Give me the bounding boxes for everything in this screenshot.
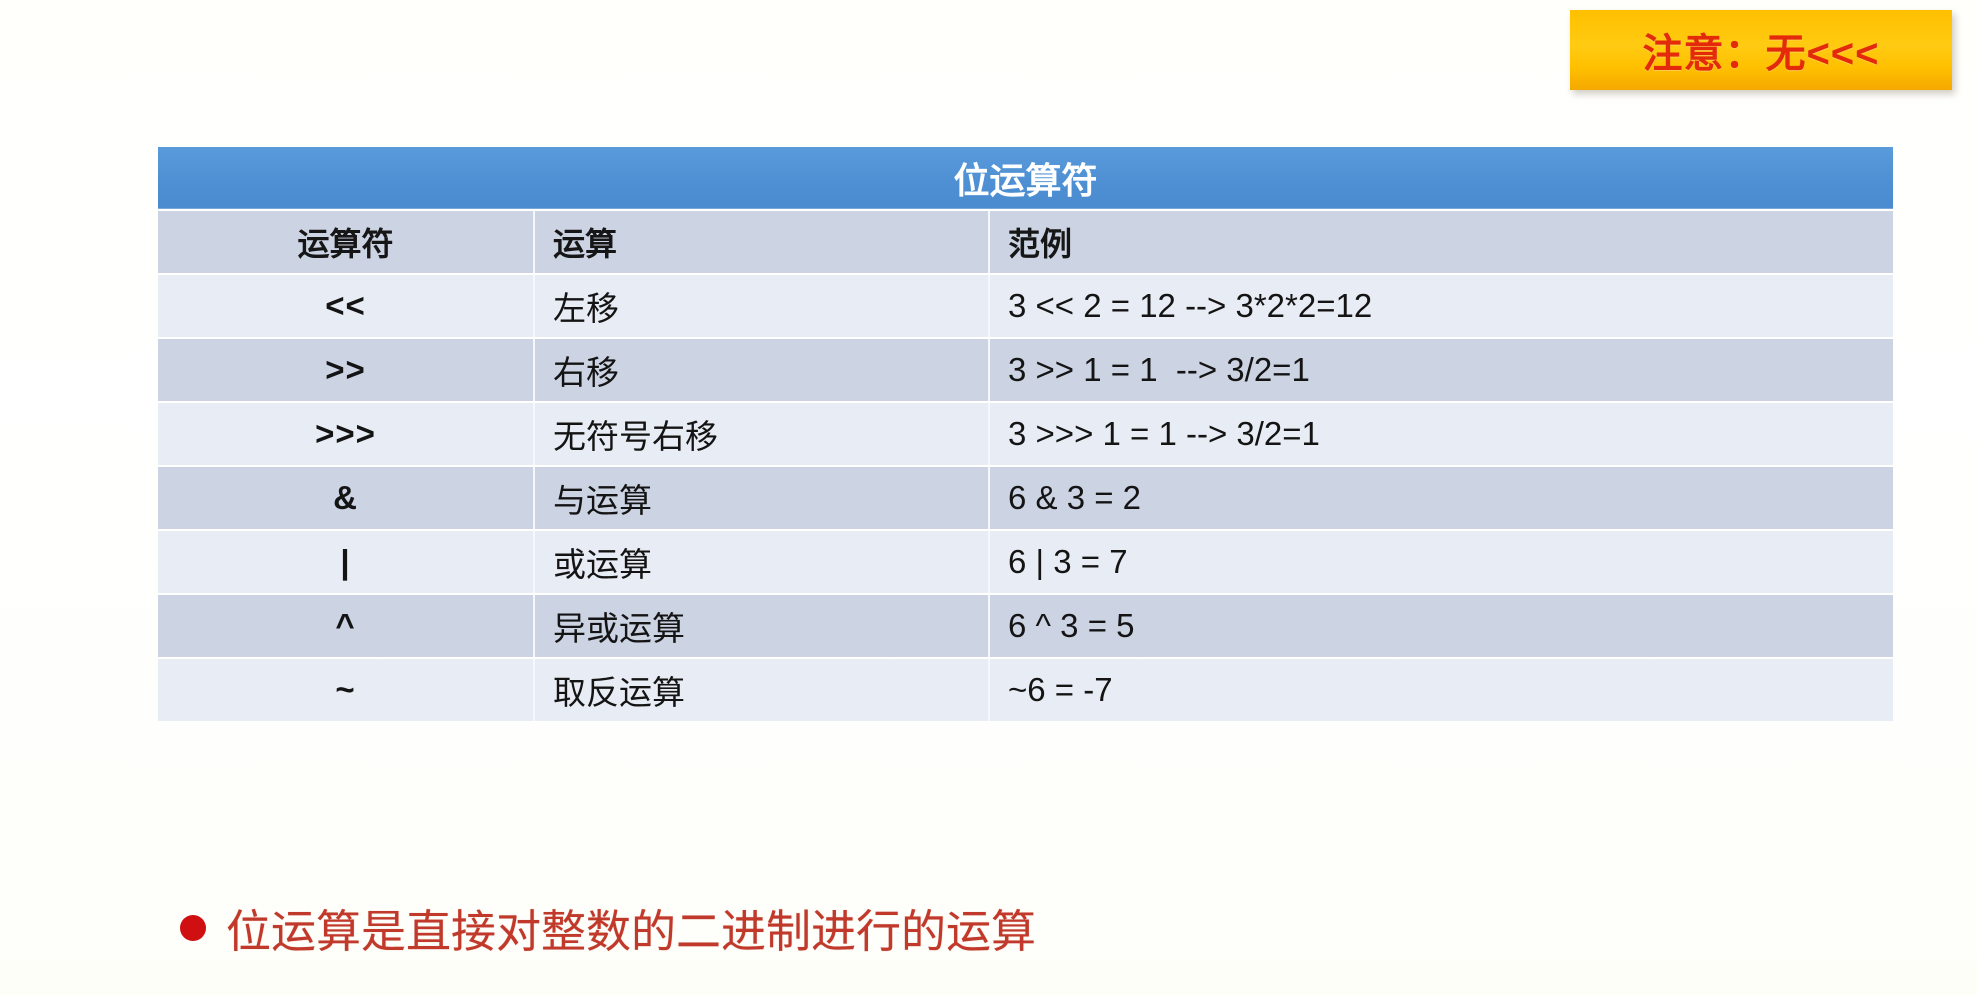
note-line: 位运算是直接对整数的二进制进行的运算 xyxy=(180,895,1036,960)
column-header-operation: 运算 xyxy=(533,211,988,273)
table-body: << 左移 3 << 2 = 12 --> 3*2*2=12 >> 右移 3 >… xyxy=(158,275,1893,721)
cell-example: 3 >> 1 = 1 --> 3/2=1 xyxy=(988,339,1893,401)
cell-example: 6 & 3 = 2 xyxy=(988,467,1893,529)
table-title: 位运算符 xyxy=(158,147,1893,209)
cell-operator: & xyxy=(158,467,533,529)
warning-callout-box: 注意：无<<< xyxy=(1570,10,1952,90)
table-row: ~ 取反运算 ~6 = -7 xyxy=(158,659,1893,721)
table-row: | 或运算 6 | 3 = 7 xyxy=(158,531,1893,593)
table-row: ^ 异或运算 6 ^ 3 = 5 xyxy=(158,595,1893,657)
cell-operation: 或运算 xyxy=(533,531,988,593)
cell-operator: >> xyxy=(158,339,533,401)
filled-circle-bullet-icon xyxy=(180,915,206,941)
cell-operation: 与运算 xyxy=(533,467,988,529)
table-row: >>> 无符号右移 3 >>> 1 = 1 --> 3/2=1 xyxy=(158,403,1893,465)
cell-operation: 异或运算 xyxy=(533,595,988,657)
slide-canvas: 注意：无<<< 位运算符 运算符 运算 范例 << xyxy=(0,0,1977,995)
cell-example: 6 | 3 = 7 xyxy=(988,531,1893,593)
note-text: 位运算是直接对整数的二进制进行的运算 xyxy=(226,895,1036,960)
warning-callout-text: 注意：无<<< xyxy=(1642,21,1879,79)
bitwise-operators-table: 位运算符 运算符 运算 范例 << 左移 3 << 2 = 12 --> 3*2… xyxy=(158,145,1893,723)
table-row: << 左移 3 << 2 = 12 --> 3*2*2=12 xyxy=(158,275,1893,337)
cell-example: 3 << 2 = 12 --> 3*2*2=12 xyxy=(988,275,1893,337)
cell-operation: 左移 xyxy=(533,275,988,337)
cell-operator: << xyxy=(158,275,533,337)
cell-operator: >>> xyxy=(158,403,533,465)
table-title-row: 位运算符 xyxy=(158,147,1893,209)
cell-operator: ~ xyxy=(158,659,533,721)
cell-example: ~6 = -7 xyxy=(988,659,1893,721)
column-header-operator: 运算符 xyxy=(158,211,533,273)
cell-example: 6 ^ 3 = 5 xyxy=(988,595,1893,657)
table-header-row: 运算符 运算 范例 xyxy=(158,211,1893,273)
table-row: & 与运算 6 & 3 = 2 xyxy=(158,467,1893,529)
cell-operation: 取反运算 xyxy=(533,659,988,721)
cell-operator: | xyxy=(158,531,533,593)
cell-operation: 右移 xyxy=(533,339,988,401)
cell-example: 3 >>> 1 = 1 --> 3/2=1 xyxy=(988,403,1893,465)
column-header-example: 范例 xyxy=(988,211,1893,273)
cell-operation: 无符号右移 xyxy=(533,403,988,465)
bitwise-operators-table-container: 位运算符 运算符 运算 范例 << 左移 3 << 2 = 12 --> 3*2… xyxy=(158,145,1893,723)
table-row: >> 右移 3 >> 1 = 1 --> 3/2=1 xyxy=(158,339,1893,401)
cell-operator: ^ xyxy=(158,595,533,657)
